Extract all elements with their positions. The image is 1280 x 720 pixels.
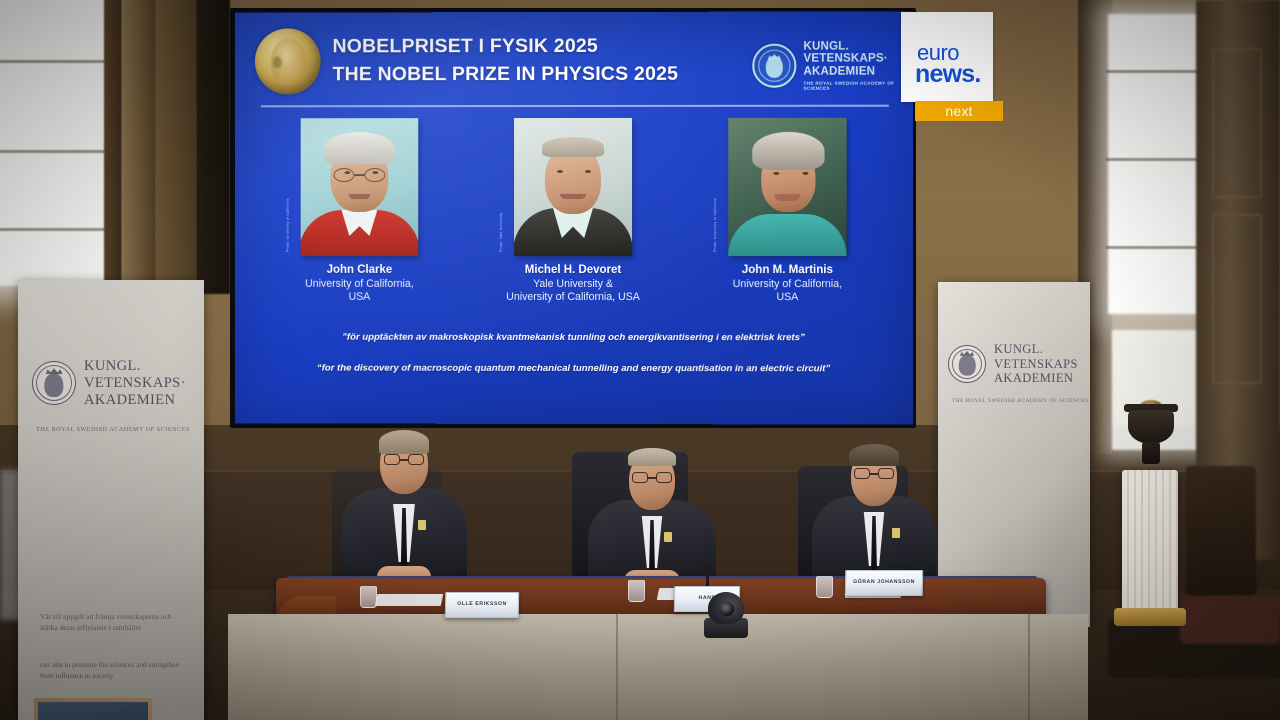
laureate-photo-wrap-1: Photo: University of California xyxy=(301,118,419,256)
portrait-eye xyxy=(372,171,378,174)
portrait-hair xyxy=(325,132,395,164)
panelist-badge xyxy=(664,532,672,542)
nameplate-name: OLLE ERIKSSON xyxy=(457,601,507,607)
nobel-prize-slide: NOBELPRISET I FYSIK 2025 THE NOBEL PRIZE… xyxy=(235,11,913,424)
water-glass xyxy=(360,586,377,608)
photo-credit-3: Photo: University of California xyxy=(713,166,717,252)
affiliation-line-1: University of California, xyxy=(305,278,414,290)
banner-left-body-en: our aim to promote the sciences and stre… xyxy=(40,660,186,681)
window-mullion xyxy=(1106,158,1208,161)
banner-left-photo xyxy=(34,698,152,720)
laureate-portrait-1 xyxy=(301,118,419,256)
floor-clutter xyxy=(1180,596,1280,644)
urn-stem xyxy=(1142,442,1160,464)
water-glass xyxy=(628,580,645,602)
window-mullion xyxy=(0,60,106,63)
portrait-hair xyxy=(542,137,604,157)
affiliation-line-1: Yale University & xyxy=(533,278,613,290)
laureate-photo-wrap-3: Photo: University of California xyxy=(728,118,846,256)
panelist-glasses-icon xyxy=(632,472,672,483)
affiliation-line-2: USA xyxy=(776,291,798,303)
banner-right-subtitle: THE ROYAL SWEDISH ACADEMY OF SCIENCES xyxy=(952,398,1089,404)
academy-line-2: VETENSKAPS· xyxy=(803,53,887,65)
banner-line-1: KUNGL. xyxy=(994,342,1078,357)
portrait-eye xyxy=(557,170,563,173)
laureate-card-1: Photo: University of California John Cla… xyxy=(275,118,444,304)
euronews-wordmark-news: news. xyxy=(915,62,980,87)
portrait-glasses xyxy=(334,168,386,182)
photo-credit-2: Photo: Yale University xyxy=(499,166,503,252)
panelist-center xyxy=(588,448,716,596)
nameplate-olle-eriksson: OLLE ERIKSSON xyxy=(445,592,519,618)
citation-swedish: ”för upptäckten av makroskopisk kvantmek… xyxy=(235,332,913,344)
podium-seam xyxy=(1028,614,1030,720)
fluted-column-pedestal xyxy=(1122,470,1178,616)
nameplate-goran-johansson: GÖRAN JOHANSSON xyxy=(845,570,923,596)
column-gilded-base xyxy=(1114,608,1186,626)
banner-line-2: VETENSKAPS· xyxy=(84,375,186,392)
seal-figure xyxy=(44,373,63,397)
banner-left-wordmark: KUNGL. VETENSKAPS· AKADEMIEN xyxy=(84,358,186,408)
portrait-mouth xyxy=(774,194,800,201)
academy-seal-icon xyxy=(752,44,796,88)
laureate-card-2: Photo: Yale University Michel H. Devoret… xyxy=(488,118,658,304)
podium-front-panel xyxy=(228,614,1088,720)
nobel-medal-icon xyxy=(255,28,321,94)
slide-title-swedish: NOBELPRISET I FYSIK 2025 xyxy=(333,34,679,60)
portrait-hair xyxy=(752,132,824,170)
laureate-name-1: John Clarke xyxy=(327,264,393,276)
panelist-hair xyxy=(379,430,429,454)
door-panel xyxy=(1212,214,1262,384)
seal-crown xyxy=(960,351,974,356)
academy-seal-icon xyxy=(32,361,76,405)
seal-crown xyxy=(46,368,63,374)
nameplate-name: GÖRAN JOHANSSON xyxy=(853,579,915,585)
academy-logo-slide: KUNGL. VETENSKAPS· AKADEMIEN THE ROYAL S… xyxy=(752,31,897,99)
seal-ring xyxy=(952,349,982,379)
table-papers xyxy=(375,594,444,606)
window-frame-left xyxy=(104,0,122,294)
academy-subtitle: THE ROYAL SWEDISH ACADEMY OF SCIENCES xyxy=(803,81,896,91)
medal-profile-detail xyxy=(273,56,282,68)
laureate-card-3: Photo: University of California John M. … xyxy=(702,118,873,305)
laureate-affiliation-3: University of California, USA xyxy=(733,278,842,304)
portrait-eye xyxy=(344,171,350,174)
portrait-mouth xyxy=(560,194,586,199)
seal-ring xyxy=(36,365,72,401)
dark-column-left xyxy=(196,0,230,294)
panelist-glasses-icon xyxy=(384,454,424,465)
panelist-hair xyxy=(628,448,676,466)
euronews-next-badge: next xyxy=(915,101,1003,121)
laureate-name-3: John M. Martinis xyxy=(742,264,833,276)
window-left xyxy=(0,0,108,286)
laureate-photo-wrap-2: Photo: Yale University xyxy=(514,118,632,256)
banner-left-subtitle: THE ROYAL SWEDISH ACADEMY OF SCIENCES xyxy=(36,426,190,433)
affiliation-line-1: University of California, xyxy=(733,278,842,290)
laureate-portrait-2 xyxy=(514,118,632,256)
slide-titles: NOBELPRISET I FYSIK 2025 THE NOBEL PRIZE… xyxy=(333,34,679,88)
pilaster-left xyxy=(122,0,156,294)
academy-line-1: KUNGL. xyxy=(803,40,848,52)
broadcast-frame: NOBELPRISET I FYSIK 2025 THE NOBEL PRIZE… xyxy=(0,0,1280,720)
academy-banner-left: KUNGL. VETENSKAPS· AKADEMIEN THE ROYAL S… xyxy=(18,280,204,720)
door-panel xyxy=(1212,48,1262,198)
portrait-mouth xyxy=(348,194,370,199)
banner-line-3: AKADEMIEN xyxy=(84,392,186,409)
academy-wordmark: KUNGL. VETENSKAPS· AKADEMIEN THE ROYAL S… xyxy=(803,40,896,91)
banner-line-1: KUNGL. xyxy=(84,358,186,375)
window-mullion xyxy=(0,150,106,153)
laureates-row: Photo: University of California John Cla… xyxy=(235,118,913,305)
panelist-left xyxy=(340,432,468,592)
window-mullion xyxy=(1106,246,1208,249)
laureate-portrait-3 xyxy=(728,118,846,256)
citation-english: “for the discovery of macroscopic quantu… xyxy=(235,363,913,375)
window-right xyxy=(1108,14,1206,314)
water-glass xyxy=(816,576,833,598)
panelist-glasses-icon xyxy=(854,468,894,479)
laureate-affiliation-2: Yale University & University of Californ… xyxy=(506,278,640,304)
laureate-name-2: Michel H. Devoret xyxy=(525,264,621,276)
chair-right xyxy=(1186,466,1256,596)
photo-credit-1: Photo: University of California xyxy=(286,166,290,252)
banner-right-wordmark: KUNGL. VETENSKAPS AKADEMIEN xyxy=(994,342,1078,386)
portrait-eye xyxy=(773,172,779,175)
podium-seam xyxy=(616,614,618,720)
ptz-camera xyxy=(700,592,752,640)
affiliation-line-2: University of California, USA xyxy=(506,291,640,303)
academy-seal-icon xyxy=(948,345,986,383)
camera-lens-icon xyxy=(720,602,734,616)
wall-column-left xyxy=(156,0,196,294)
affiliation-line-2: USA xyxy=(349,291,371,303)
panelist-badge xyxy=(892,528,900,538)
slide-title-english: THE NOBEL PRIZE IN PHYSICS 2025 xyxy=(333,62,679,88)
seal-figure xyxy=(959,355,976,376)
prize-citation: ”för upptäckten av makroskopisk kvantmek… xyxy=(235,332,913,375)
seal-figure xyxy=(766,56,783,78)
banner-line-2: VETENSKAPS xyxy=(994,357,1078,372)
banner-left-body-sv: Vår till uppgift att främja vetenskapern… xyxy=(40,612,186,633)
euronews-logo-box: euro news. xyxy=(901,12,993,102)
slide-header: NOBELPRISET I FYSIK 2025 THE NOBEL PRIZE… xyxy=(235,11,913,114)
panelist-badge xyxy=(418,520,426,530)
banner-right-logo: KUNGL. VETENSKAPS AKADEMIEN xyxy=(948,342,1078,386)
banner-line-3: AKADEMIEN xyxy=(994,371,1078,386)
header-divider xyxy=(261,105,889,108)
window-mullion xyxy=(0,228,106,231)
portrait-eye xyxy=(802,172,808,175)
window-mullion xyxy=(1106,70,1208,73)
panelist-hair xyxy=(849,444,899,466)
banner-left-logo: KUNGL. VETENSKAPS· AKADEMIEN xyxy=(32,358,186,408)
decorative-urn xyxy=(1128,410,1174,444)
euronews-logo: euro news. next xyxy=(901,0,1002,121)
portrait-eye xyxy=(585,170,591,173)
academy-line-3: AKADEMIEN xyxy=(803,66,875,78)
laureate-affiliation-1: University of California, USA xyxy=(305,278,414,304)
